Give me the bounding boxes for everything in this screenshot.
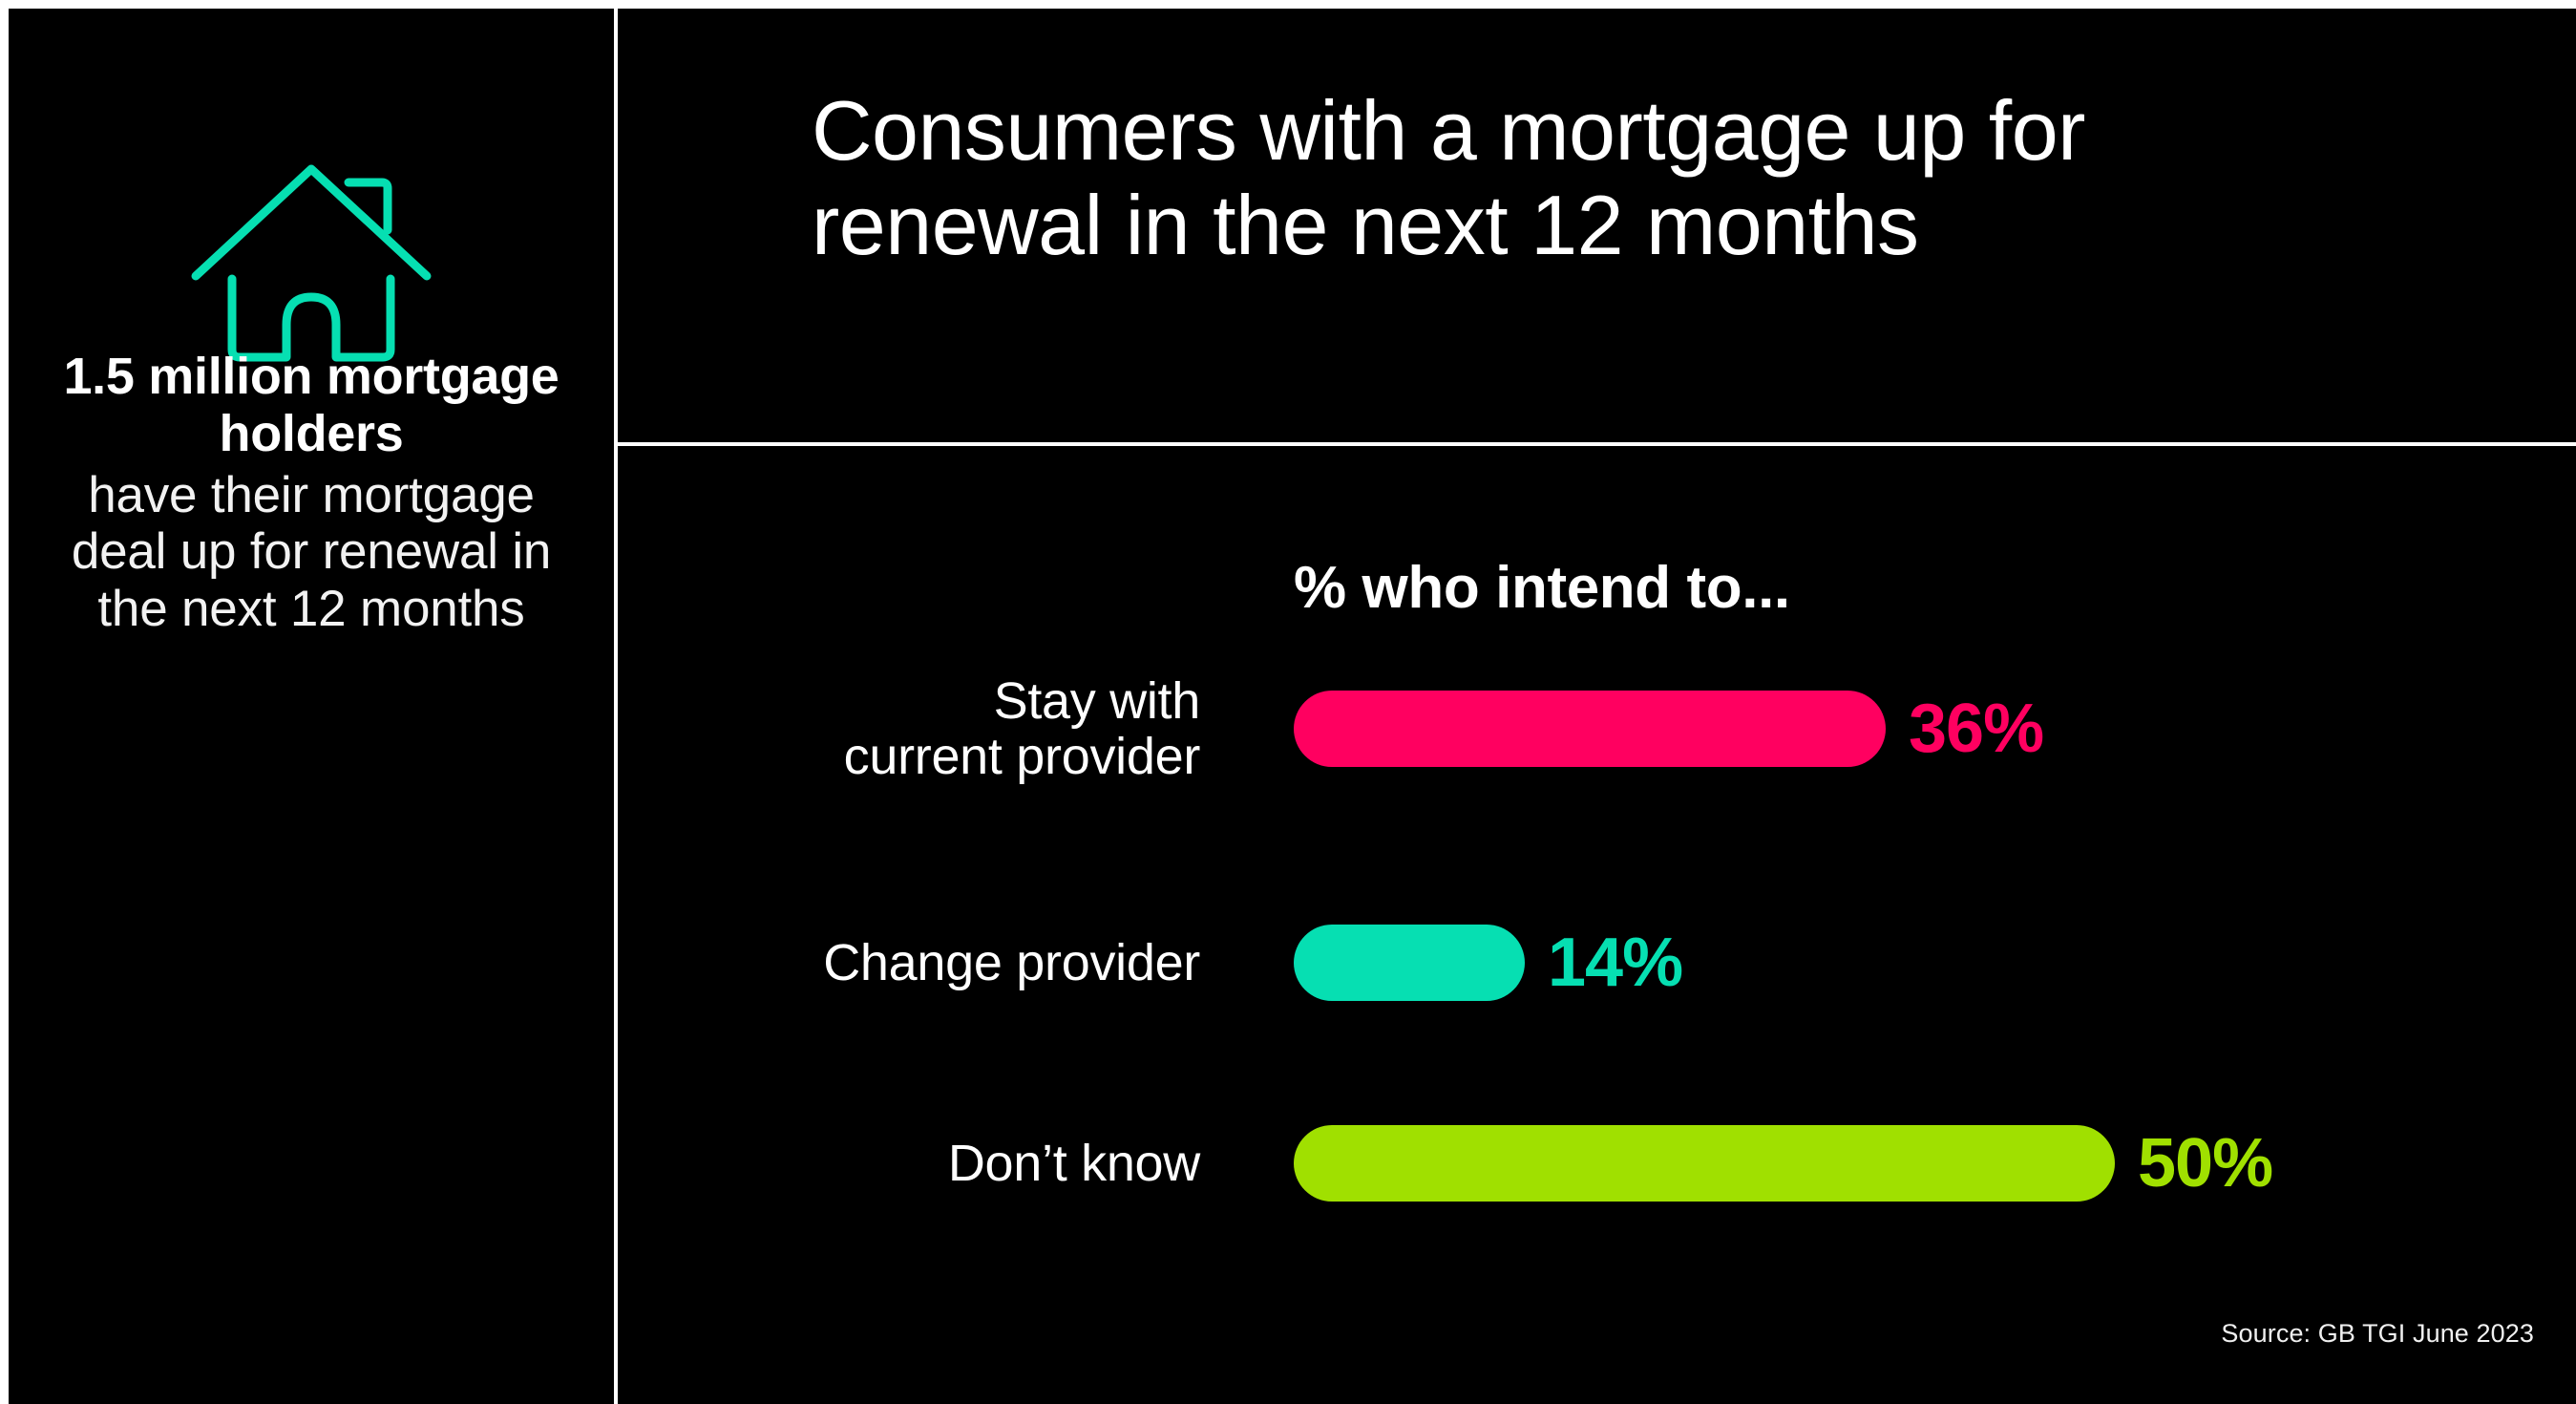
bar-row: Stay with current provider 36% [618,676,2576,781]
left-stat-text: 1.5 million mortgage holders have their … [37,348,585,637]
bar-track: 50% [1294,1111,2272,1216]
infographic-panel: 1.5 million mortgage holders have their … [9,9,2576,1404]
right-content-column: Consumers with a mortgage up for renewal… [618,9,2576,1404]
bar-fill [1294,925,1525,1001]
chart-title: % who intend to... [1294,554,1790,622]
bar-fill [1294,691,1886,767]
page-title: Consumers with a mortgage up for renewal… [812,83,2435,273]
house-icon-container [9,152,614,372]
bar-row: Don’t know 50% [618,1111,2576,1216]
left-headline: 1.5 million mortgage holders [37,348,585,463]
house-icon [187,152,435,372]
bar-row: Change provider 14% [618,910,2576,1015]
bar-value-label: 36% [1909,694,2043,763]
bar-track: 36% [1294,676,2043,781]
left-body-text: have their mortgage deal up for renewal … [37,467,585,637]
left-stat-column: 1.5 million mortgage holders have their … [9,9,614,1404]
bar-value-label: 50% [2138,1129,2272,1198]
bar-label: Stay with current provider [608,673,1200,785]
bar-label: Change provider [608,935,1200,990]
bar-chart: % who intend to... Stay with current pro… [618,442,2576,1404]
bar-label: Don’t know [608,1136,1200,1191]
infographic-canvas: 1.5 million mortgage holders have their … [0,0,2576,1404]
bar-fill [1294,1125,2115,1202]
source-note: Source: GB TGI June 2023 [2221,1319,2534,1349]
bar-value-label: 14% [1548,928,1682,997]
bar-track: 14% [1294,910,1682,1015]
